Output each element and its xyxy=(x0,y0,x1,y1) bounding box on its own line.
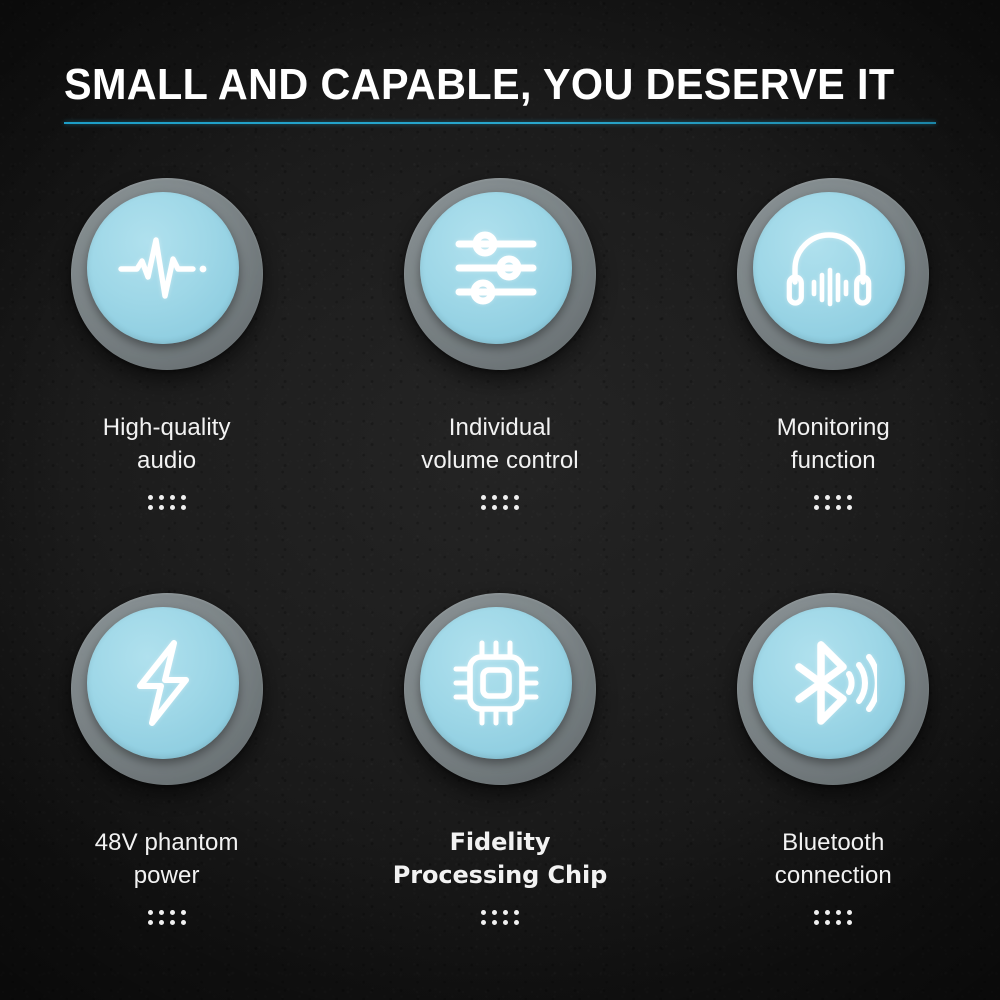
sliders-icon xyxy=(454,229,538,307)
features-grid: High-quality audio xyxy=(0,178,1000,1000)
feature-caption: High-quality audio xyxy=(103,411,231,477)
feature-caption: 48V phantom power xyxy=(95,826,239,892)
caption-line-2: audio xyxy=(103,444,231,477)
caption-line-1: Monitoring xyxy=(777,414,890,441)
caption-line-1: Fidelity xyxy=(450,828,551,856)
page-title: SMALL AND CAPABLE, YOU DESERVE IT xyxy=(64,62,884,108)
dot-separator xyxy=(148,910,186,925)
lightning-bolt-icon xyxy=(130,639,196,727)
dot-separator xyxy=(481,910,519,925)
caption-line-2: function xyxy=(777,444,890,477)
badge-disc xyxy=(420,607,572,759)
feature-card-fidelity-processing-chip[interactable]: Fidelity Processing Chip xyxy=(333,593,666,1000)
caption-line-1: Individual xyxy=(449,414,551,441)
feature-caption: Bluetooth connection xyxy=(775,826,892,892)
badge-disc xyxy=(87,607,239,759)
headphones-icon xyxy=(786,227,872,309)
dot-separator xyxy=(148,495,186,510)
caption-line-1: 48V phantom xyxy=(95,829,239,856)
feature-card-48v-phantom-power[interactable]: 48V phantom power xyxy=(0,593,333,1000)
waveform-pulse-icon xyxy=(117,233,209,303)
badge-disc xyxy=(753,607,905,759)
caption-line-2: connection xyxy=(775,859,892,892)
caption-line-2: volume control xyxy=(421,444,578,477)
dot-separator xyxy=(814,910,852,925)
badge-disc xyxy=(87,192,239,344)
badge-disc xyxy=(753,192,905,344)
feature-badge xyxy=(71,593,263,785)
feature-caption: Fidelity Processing Chip xyxy=(393,826,607,892)
badge-disc xyxy=(420,192,572,344)
microchip-icon xyxy=(450,637,542,729)
feature-card-individual-volume-control[interactable]: Individual volume control xyxy=(333,178,666,593)
dot-separator xyxy=(481,495,519,510)
feature-card-bluetooth-connection[interactable]: Bluetooth connection xyxy=(667,593,1000,1000)
caption-line-2: power xyxy=(95,859,239,892)
page-header: SMALL AND CAPABLE, YOU DESERVE IT xyxy=(64,62,936,124)
caption-line-1: Bluetooth xyxy=(782,829,884,856)
caption-line-1: High-quality xyxy=(103,414,231,441)
feature-badge xyxy=(404,593,596,785)
dot-separator xyxy=(814,495,852,510)
feature-badge xyxy=(737,593,929,785)
feature-badge xyxy=(737,178,929,370)
feature-caption: Individual volume control xyxy=(421,411,578,477)
feature-card-monitoring-function[interactable]: Monitoring function xyxy=(667,178,1000,593)
feature-badge xyxy=(404,178,596,370)
feature-card-high-quality-audio[interactable]: High-quality audio xyxy=(0,178,333,593)
feature-grid-page: SMALL AND CAPABLE, YOU DESERVE IT High-q xyxy=(0,0,1000,1000)
caption-line-2: Processing Chip xyxy=(393,859,607,892)
feature-badge xyxy=(71,178,263,370)
feature-caption: Monitoring function xyxy=(777,411,890,477)
bluetooth-signal-icon xyxy=(781,640,877,726)
title-underline-rule xyxy=(64,122,936,124)
